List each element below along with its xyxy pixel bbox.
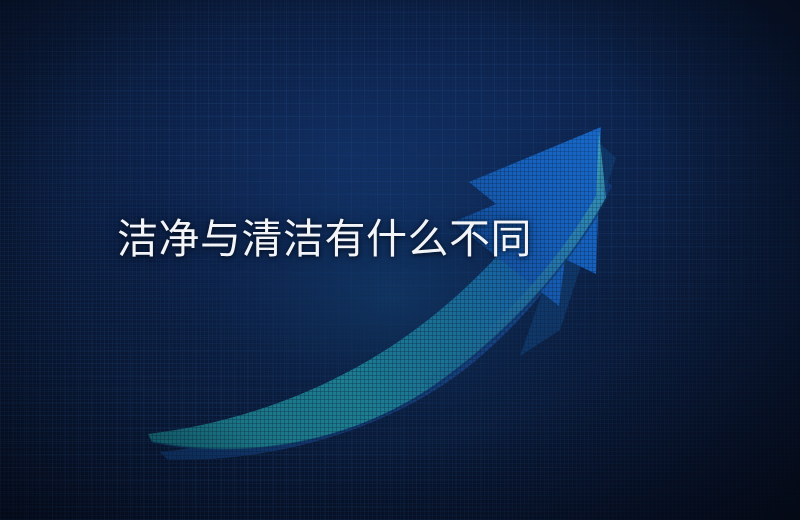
hero-banner: 洁净与清洁有什么不同 [0, 0, 800, 520]
page-title: 洁净与清洁有什么不同 [117, 216, 532, 262]
